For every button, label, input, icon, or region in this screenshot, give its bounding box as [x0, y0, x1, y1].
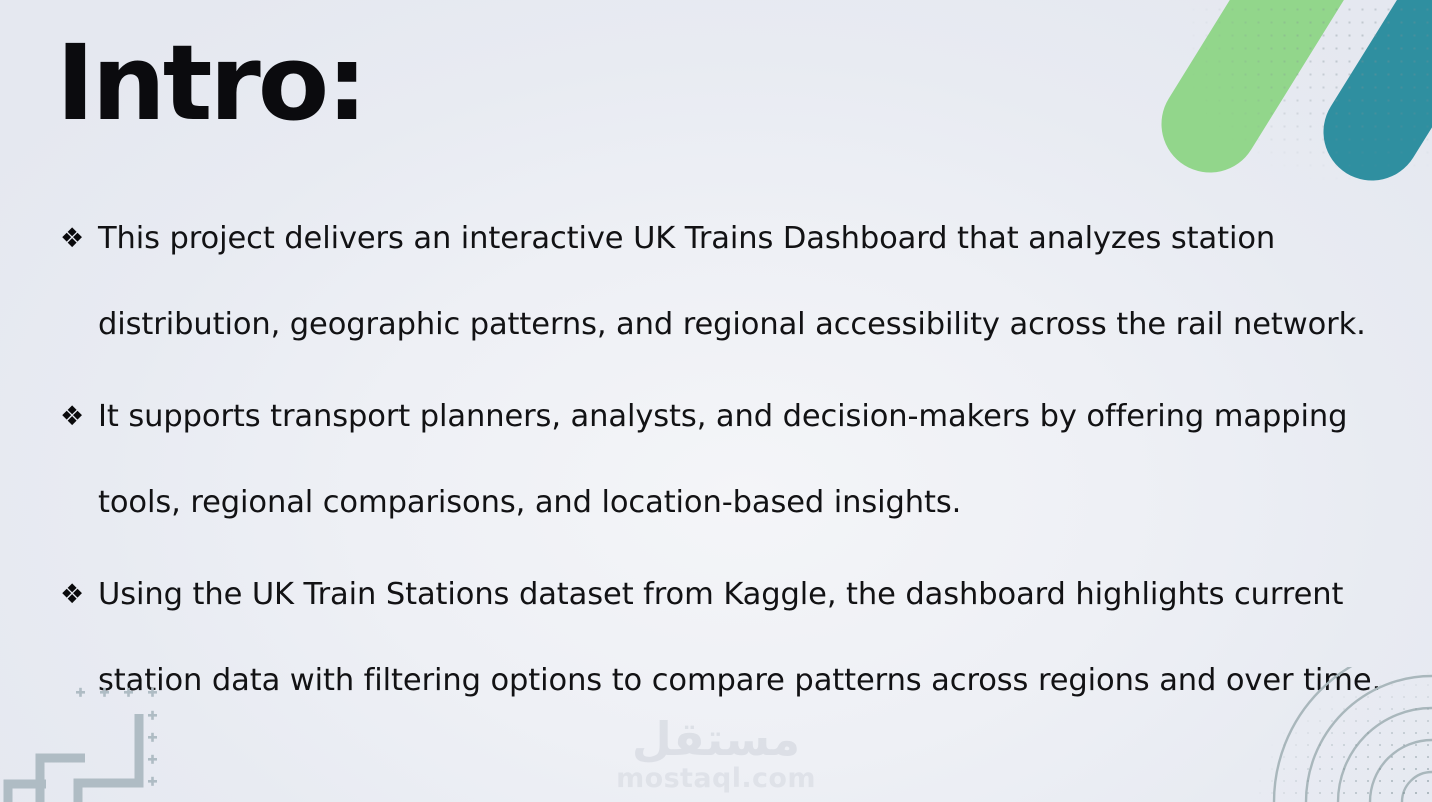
list-item: ❖ Using the UK Train Stations dataset fr…	[52, 552, 1402, 724]
list-item-text: This project delivers an interactive UK …	[98, 196, 1402, 368]
arc-1	[1402, 772, 1432, 802]
bracket-large	[8, 784, 46, 802]
large-green-bar	[1210, 0, 1324, 124]
plus-mark	[148, 777, 157, 786]
diamond-bullet-icon: ❖	[52, 196, 98, 282]
arc-2	[1370, 740, 1432, 802]
slide-canvas: Intro: ❖ This project delivers an intera…	[0, 0, 1432, 802]
diamond-bullet-icon: ❖	[52, 374, 98, 460]
list-item-text: Using the UK Train Stations dataset from…	[98, 552, 1402, 724]
plus-mark	[148, 733, 157, 742]
large-teal-bar	[1372, 0, 1432, 132]
list-item-text: It supports transport planners, analysts…	[98, 374, 1402, 546]
bullet-list: ❖ This project delivers an interactive U…	[52, 196, 1402, 730]
watermark-url-text: mostaql.com	[586, 763, 846, 794]
list-item: ❖ This project delivers an interactive U…	[52, 196, 1402, 368]
list-item: ❖ It supports transport planners, analys…	[52, 374, 1402, 546]
diamond-bullet-icon: ❖	[52, 552, 98, 638]
plus-mark	[148, 755, 157, 764]
bracket-medium	[40, 758, 85, 802]
small-teal-bar	[1208, 17, 1254, 92]
page-title: Intro:	[56, 22, 365, 145]
